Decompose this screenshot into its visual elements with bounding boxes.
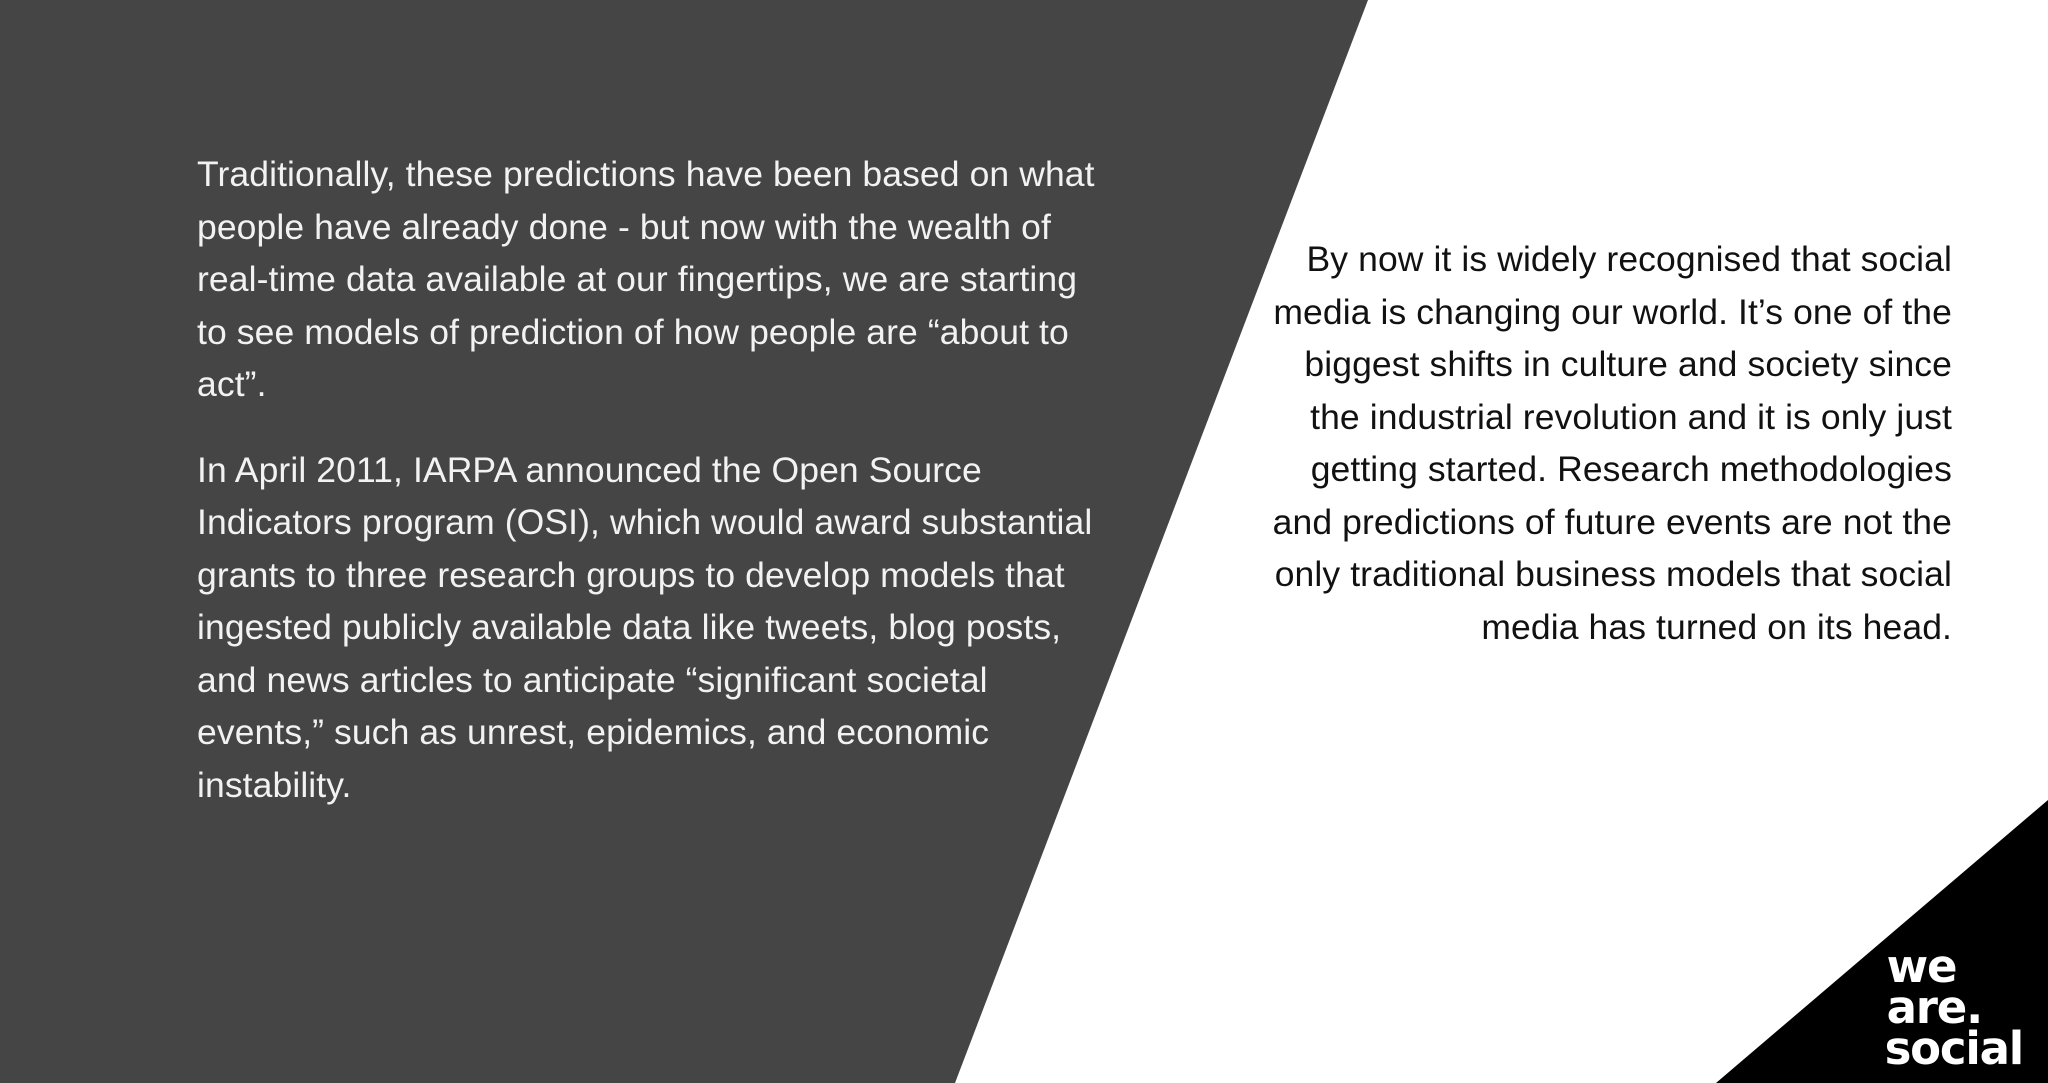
- right-paragraph-1: By now it is widely recognised that soci…: [1262, 233, 1952, 653]
- left-text-column: Traditionally, these predictions have be…: [197, 148, 1097, 811]
- we-are-social-logo: we are. social: [1885, 946, 2023, 1069]
- logo-line-social: social: [1885, 1028, 2023, 1069]
- left-paragraph-1: Traditionally, these predictions have be…: [197, 148, 1097, 411]
- slide-canvas: Traditionally, these predictions have be…: [0, 0, 2048, 1083]
- right-text-column: By now it is widely recognised that soci…: [1262, 233, 1952, 653]
- left-paragraph-2: In April 2011, IARPA announced the Open …: [197, 444, 1097, 812]
